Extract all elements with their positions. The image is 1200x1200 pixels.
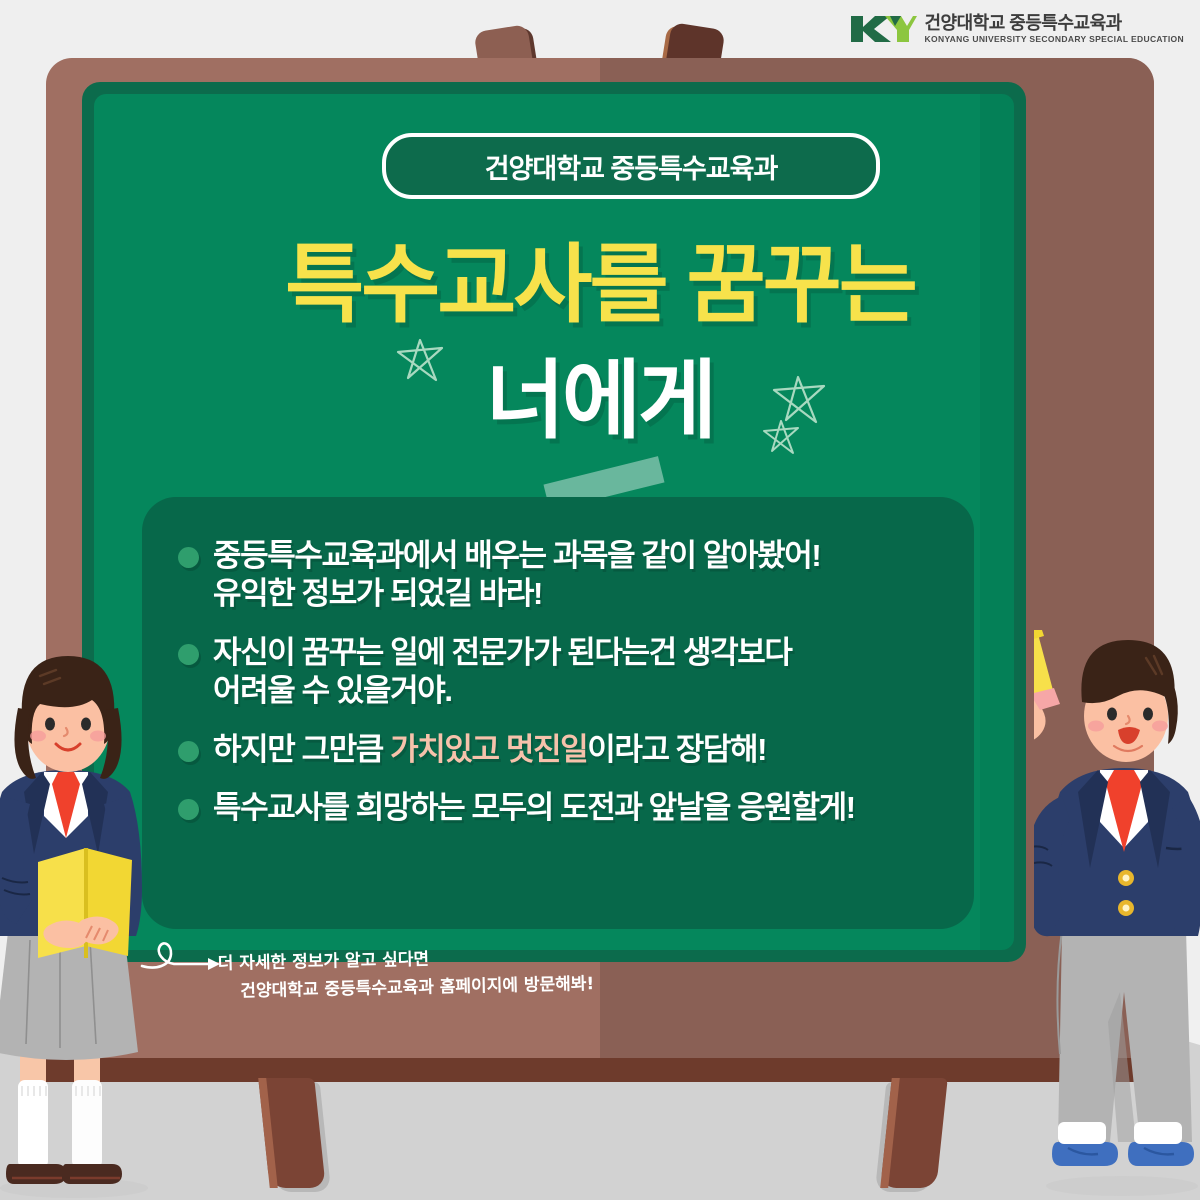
poster-canvas: 건양대학교 중등특수교육과 특수교사를 꿈꾸는 너에게 중등특수교육과에서 배우… [0,0,1200,1200]
star-doodle-icon [392,336,448,386]
list-item: 자신이 꿈꾸는 일에 전문가가 된다는건 생각보다 어려울 수 있을거야. [178,634,950,711]
bullet-dot-icon [178,547,199,568]
bullet-3-prefix: 하지만 그만큼 [213,732,390,767]
department-badge: 건양대학교 중등특수교육과 [382,133,880,199]
bullet-list: 중등특수교육과에서 배우는 과목을 같이 알아봤어! 유익한 정보가 되었길 바… [178,537,950,848]
chalkboard-leg-left [258,1078,326,1188]
footer-note: 더 자세한 정보가 알고 싶다면 건양대학교 중등특수교육과 홈페이지에 방문해… [217,942,594,1006]
bullet-1-line-1: 중등특수교육과에서 배우는 과목을 같이 알아봤어! [213,537,820,575]
male-student-illustration [1034,630,1200,1200]
bullet-dot-icon [178,741,199,762]
content-panel: 중등특수교육과에서 배우는 과목을 같이 알아봤어! 유익한 정보가 되었길 바… [142,497,974,929]
brand-logo: 건양대학교 중등특수교육과 KONYANG UNIVERSITY SECONDA… [849,14,1185,44]
bullet-3-suffix: 이라고 장담해! [587,732,766,767]
headline-line-1: 특수교사를 꿈꾸는 [0,214,1200,339]
ky-logo-icon [849,14,917,44]
list-item: 특수교사를 희망하는 모두의 도전과 앞날을 응원할게! [178,789,950,827]
headline-line-2: 너에게 [0,330,1200,455]
star-doodle-icon [760,418,802,458]
department-badge-label: 건양대학교 중등특수교육과 [485,147,778,186]
brand-name-en: KONYANG UNIVERSITY SECONDARY SPECIAL EDU… [925,35,1185,44]
bullet-1-line-2: 유익한 정보가 되었길 바라! [213,575,820,613]
brand-name-ko: 건양대학교 중등특수교육과 [925,14,1185,32]
bullet-4-line-1: 특수교사를 희망하는 모두의 도전과 앞날을 응원할게! [213,789,855,827]
list-item: 중등특수교육과에서 배우는 과목을 같이 알아봤어! 유익한 정보가 되었길 바… [178,537,950,614]
bullet-2-line-1: 자신이 꿈꾸는 일에 전문가가 된다는건 생각보다 [213,634,791,672]
chalkboard-leg-right [880,1078,948,1188]
chalkboard-ledge [40,1058,1160,1082]
female-student-illustration [0,640,164,1200]
list-item: 하지만 그만큼 가치있고 멋진일이라고 장담해! [178,731,950,769]
bullet-3-highlight: 가치있고 멋진일 [390,732,587,767]
bullet-dot-icon [178,799,199,820]
bullet-dot-icon [178,644,199,665]
footer-note-line-1: 더 자세한 정보가 알고 싶다면 [218,950,430,974]
bullet-2-line-2: 어려울 수 있을거야. [213,672,791,710]
